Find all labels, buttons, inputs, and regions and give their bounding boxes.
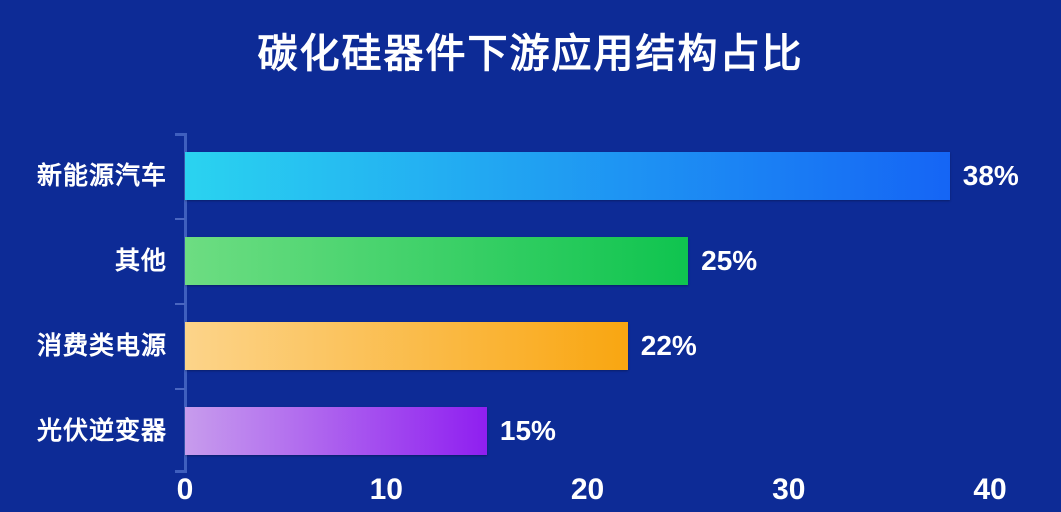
bar-value-label-2: 22% [628,322,697,370]
chart-canvas: 碳化硅器件下游应用结构占比 新能源汽车 38% 其他 25% 消费类电源 22%… [0,0,1061,512]
y-axis-tick-0 [175,218,185,220]
x-axis: 0 10 20 30 40 [185,473,990,512]
y-axis-tick-1 [175,303,185,305]
bar-2[interactable] [185,322,628,370]
bar-row[interactable]: 消费类电源 22% [185,303,990,388]
chart-title: 碳化硅器件下游应用结构占比 [0,30,1061,78]
category-label-2: 消费类电源 [7,322,167,370]
bar-3[interactable] [185,407,487,455]
category-label-3: 光伏逆变器 [7,407,167,455]
category-label-1: 其他 [7,237,167,285]
y-axis-tick-2 [175,388,185,390]
x-axis-tick-label-0: 0 [145,473,225,507]
bar-value-label-1: 25% [688,237,757,285]
category-label-0: 新能源汽车 [7,152,167,200]
bar-row[interactable]: 新能源汽车 38% [185,133,990,218]
bar-row[interactable]: 光伏逆变器 15% [185,388,990,473]
plot-area: 新能源汽车 38% 其他 25% 消费类电源 22% 光伏逆变器 15% [185,133,990,473]
bar-row[interactable]: 其他 25% [185,218,990,303]
bar-0[interactable] [185,152,950,200]
x-axis-tick-label-2: 20 [548,473,628,507]
x-axis-tick-label-4: 40 [950,473,1030,507]
bar-value-label-3: 15% [487,407,556,455]
bar-value-label-0: 38% [950,152,1019,200]
bar-1[interactable] [185,237,688,285]
x-axis-tick-label-1: 10 [346,473,426,507]
x-axis-tick-label-3: 30 [749,473,829,507]
